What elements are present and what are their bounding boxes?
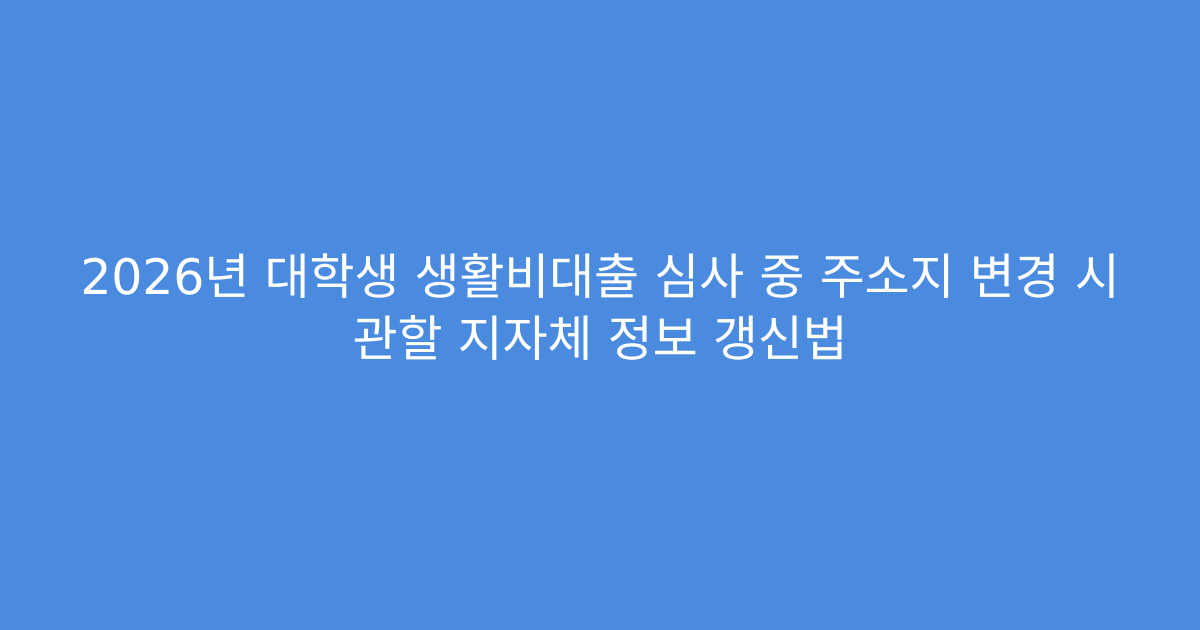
- headline-block: 2026년 대학생 생활비대출 심사 중 주소지 변경 시 관할 지자체 정보 …: [50, 247, 1150, 371]
- headline-line-2: 관할 지자체 정보 갱신법: [70, 309, 1130, 371]
- og-image-card: 2026년 대학생 생활비대출 심사 중 주소지 변경 시 관할 지자체 정보 …: [0, 0, 1200, 630]
- headline-line-1: 2026년 대학생 생활비대출 심사 중 주소지 변경 시: [70, 247, 1130, 309]
